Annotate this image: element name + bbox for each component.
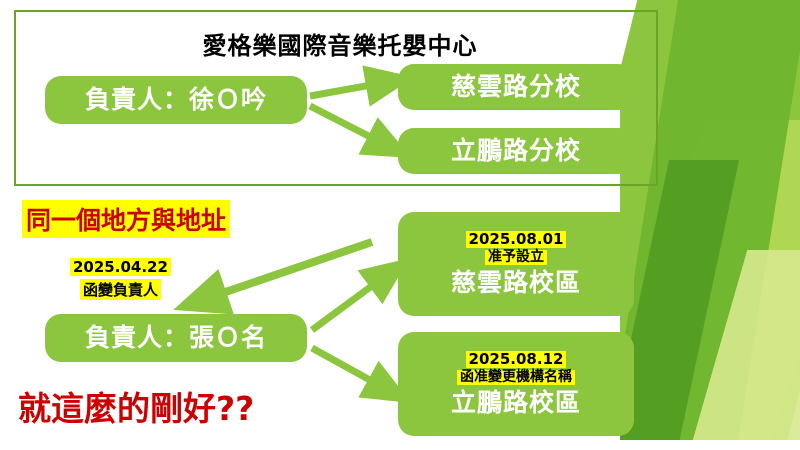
annotation-change-owner: 2025.04.22 函變負責人 [70,258,171,300]
campus-ciyun-note: 准予設立 [485,250,547,265]
annotation-same-address: 同一個地方與地址 [22,200,230,238]
branch-ciyun-label: 慈雲路分校 [451,73,581,101]
campus-ciyun-label: 慈雲路校區 [451,269,581,297]
campus-ciyun-date: 2025.08.01 [466,231,567,248]
background-bottom-stripe [0,440,800,450]
branch-lipeng-label: 立鵬路分校 [451,137,581,165]
branch-box-ciyun[interactable]: 慈雲路分校 [398,64,634,110]
annotation-question: 就這麼的剛好?? [18,382,254,430]
annotation-change-note: 函變負責人 [80,279,161,300]
annotation-change-date: 2025.04.22 [70,258,171,276]
page-title: 愛格樂國際音樂托嬰中心 [120,26,560,61]
campus-box-ciyun[interactable]: 2025.08.01 准予設立 慈雲路校區 [398,212,634,316]
owner-box-original[interactable]: 負責人：徐Ｏ吟 [45,76,307,124]
background-left-stripe [0,0,14,450]
owner-box-new[interactable]: 負責人：張Ｏ名 [45,314,307,362]
branch-box-lipeng[interactable]: 立鵬路分校 [398,128,634,174]
owner-new-label: 負責人：張Ｏ名 [85,324,267,352]
slide-canvas: 愛格樂國際音樂托嬰中心 負責人：徐Ｏ吟 慈雲路分校 立鵬路分校 同一個地方與地址… [0,0,800,450]
campus-lipeng-date: 2025.08.12 [466,351,567,368]
campus-box-lipeng[interactable]: 2025.08.12 函准變更機構名稱 立鵬路校區 [398,332,634,436]
campus-lipeng-note: 函准變更機構名稱 [457,370,575,385]
campus-lipeng-label: 立鵬路校區 [451,389,581,417]
owner-original-label: 負責人：徐Ｏ吟 [85,86,267,114]
